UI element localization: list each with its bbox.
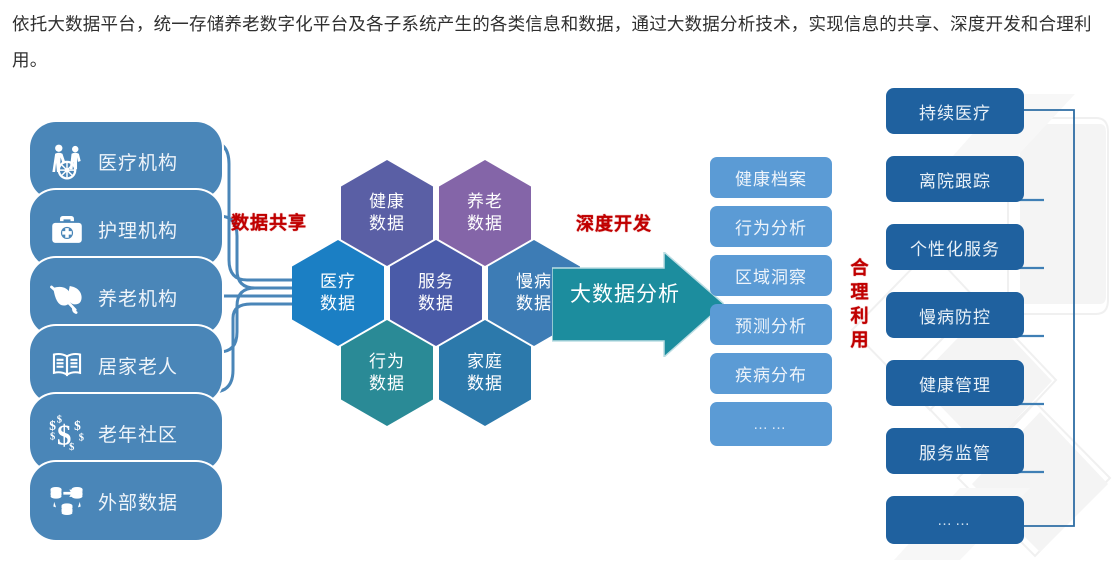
nurse-patient-icon	[44, 138, 90, 184]
result-box-predictive-analysis[interactable]: 预测分析	[710, 304, 832, 345]
open-book-icon	[44, 342, 90, 388]
source-item-label: 居家老人	[98, 352, 178, 379]
source-item-senior-community[interactable]: $ $ $ $ $ $ $ 老年社区	[30, 394, 222, 472]
hex-line2: 数据	[467, 213, 503, 235]
source-item-nursing-institution[interactable]: 护理机构	[30, 190, 222, 268]
source-item-label: 养老机构	[98, 284, 178, 311]
result-box-regional-insight[interactable]: 区域洞察	[710, 255, 832, 296]
hex-line1: 养老	[467, 191, 503, 213]
result-box-disease-distribution[interactable]: 疾病分布	[710, 353, 832, 394]
leaf-icon	[44, 274, 90, 320]
hex-line1: 慢病	[516, 271, 552, 293]
arrow-label: 大数据分析	[565, 278, 685, 308]
intro-paragraph: 依托大数据平台，统一存储养老数字化平台及各子系统产生的各类信息和数据，通过大数据…	[12, 6, 1104, 78]
source-item-medical-institution[interactable]: 医疗机构	[30, 122, 222, 200]
source-item-label: 老年社区	[98, 420, 178, 447]
applications-column: 持续医疗 离院跟踪 个性化服务 慢病防控 健康管理 服务监管 ……	[886, 88, 1024, 566]
hex-line1: 家庭	[467, 351, 503, 373]
app-box-service-supervision[interactable]: 服务监管	[886, 428, 1024, 474]
svg-text:$: $	[79, 433, 84, 444]
app-box-post-discharge-followup[interactable]: 离院跟踪	[886, 156, 1024, 202]
database-transfer-icon	[44, 478, 90, 524]
source-item-label: 护理机构	[98, 216, 178, 243]
result-box-behavior-analysis[interactable]: 行为分析	[710, 206, 832, 247]
source-item-label: 外部数据	[98, 488, 178, 515]
result-box-more[interactable]: ……	[710, 402, 832, 446]
label-rational-use: 合理利用	[849, 256, 871, 352]
hex-line2: 数据	[467, 373, 503, 395]
source-item-home-elderly[interactable]: 居家老人	[30, 326, 222, 404]
medical-kit-icon	[44, 206, 90, 252]
hex-line2: 数据	[516, 293, 552, 315]
hex-line2: 数据	[418, 293, 454, 315]
app-box-chronic-disease-prevention[interactable]: 慢病防控	[886, 292, 1024, 338]
label-data-sharing: 数据共享	[231, 209, 307, 235]
hex-line2: 数据	[320, 293, 356, 315]
svg-text:$: $	[74, 418, 81, 433]
hex-line2: 数据	[369, 373, 405, 395]
svg-text:$: $	[50, 432, 55, 443]
diagram-canvas: 依托大数据平台，统一存储养老数字化平台及各子系统产生的各类信息和数据，通过大数据…	[0, 0, 1114, 574]
hex-line1: 健康	[369, 191, 405, 213]
source-item-external-data[interactable]: 外部数据	[30, 462, 222, 540]
svg-text:$: $	[57, 414, 62, 425]
data-source-panel: 医疗机构 护理机构 养老机构	[30, 122, 222, 540]
app-box-personalized-service[interactable]: 个性化服务	[886, 224, 1024, 270]
svg-text:$: $	[69, 442, 74, 453]
result-box-health-record[interactable]: 健康档案	[710, 157, 832, 198]
hex-line2: 数据	[369, 213, 405, 235]
hex-line1: 医疗	[320, 271, 356, 293]
label-deep-development: 深度开发	[576, 210, 652, 236]
source-item-label: 医疗机构	[98, 148, 178, 175]
app-box-continuous-care[interactable]: 持续医疗	[886, 88, 1024, 134]
data-hexagon-cluster: 健康 数据 养老 数据 医疗 数据 服务 数据 慢病 数据 行为 数据 家庭 数…	[285, 160, 550, 420]
analysis-results-column: 健康档案 行为分析 区域洞察 预测分析 疾病分布 ……	[710, 157, 832, 454]
application-bracket	[1016, 88, 1092, 548]
hex-line1: 服务	[418, 271, 454, 293]
app-box-health-management[interactable]: 健康管理	[886, 360, 1024, 406]
dollar-signs-icon: $ $ $ $ $ $ $	[44, 410, 90, 456]
source-item-elderly-care-institution[interactable]: 养老机构	[30, 258, 222, 336]
app-box-more[interactable]: ……	[886, 496, 1024, 544]
hex-line1: 行为	[369, 351, 405, 373]
